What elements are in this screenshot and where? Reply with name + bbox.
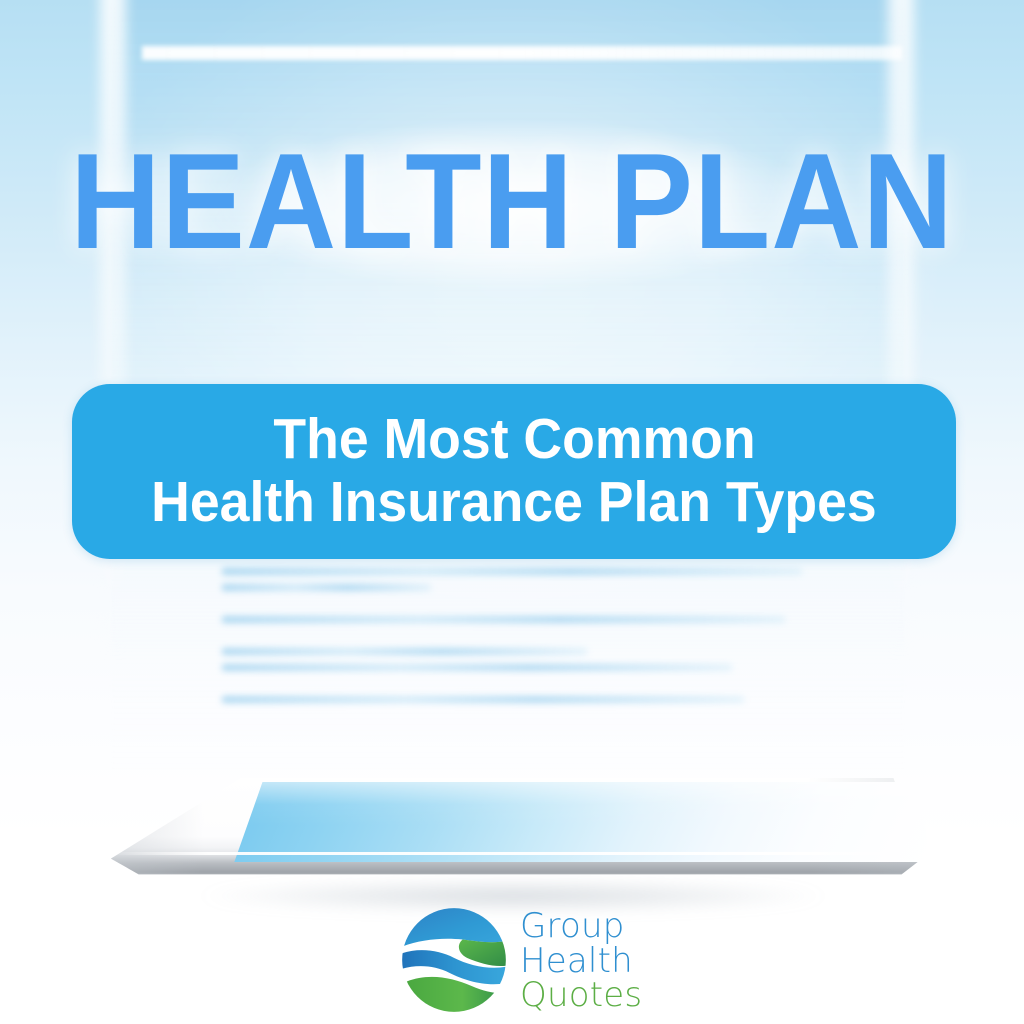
group-health-quotes-globe-icon	[400, 906, 508, 1014]
logo-wordmark: Group Health Quotes	[520, 907, 642, 1013]
blurred-document-text	[222, 568, 802, 712]
tablet-bezel-sheen	[106, 778, 922, 890]
tablet-screen	[223, 782, 930, 862]
tablet-body	[106, 778, 922, 890]
banner-line-2: Health Insurance Plan Types	[151, 473, 877, 531]
headline-banner: The Most Common Health Insurance Plan Ty…	[72, 384, 956, 559]
logo-line-health: Health	[520, 944, 642, 979]
tablet-device	[78, 768, 946, 918]
tablet-front-edge	[112, 852, 912, 855]
banner-line-1: The Most Common	[273, 410, 755, 468]
logo-line-quotes: Quotes	[520, 978, 642, 1013]
projection-beam-left	[100, 0, 126, 750]
brand-logo[interactable]: Group Health Quotes	[400, 904, 640, 1016]
document-header-bar	[142, 46, 902, 60]
projection-beam-right	[888, 0, 914, 750]
title-glow	[120, 110, 910, 300]
page-title: HEALTH PLAN	[41, 133, 983, 269]
logo-line-group: Group	[520, 909, 642, 944]
tablet-screen-glare	[223, 782, 930, 862]
poster-canvas: HEALTH PLAN The Most Common Health Insur…	[0, 0, 1024, 1024]
